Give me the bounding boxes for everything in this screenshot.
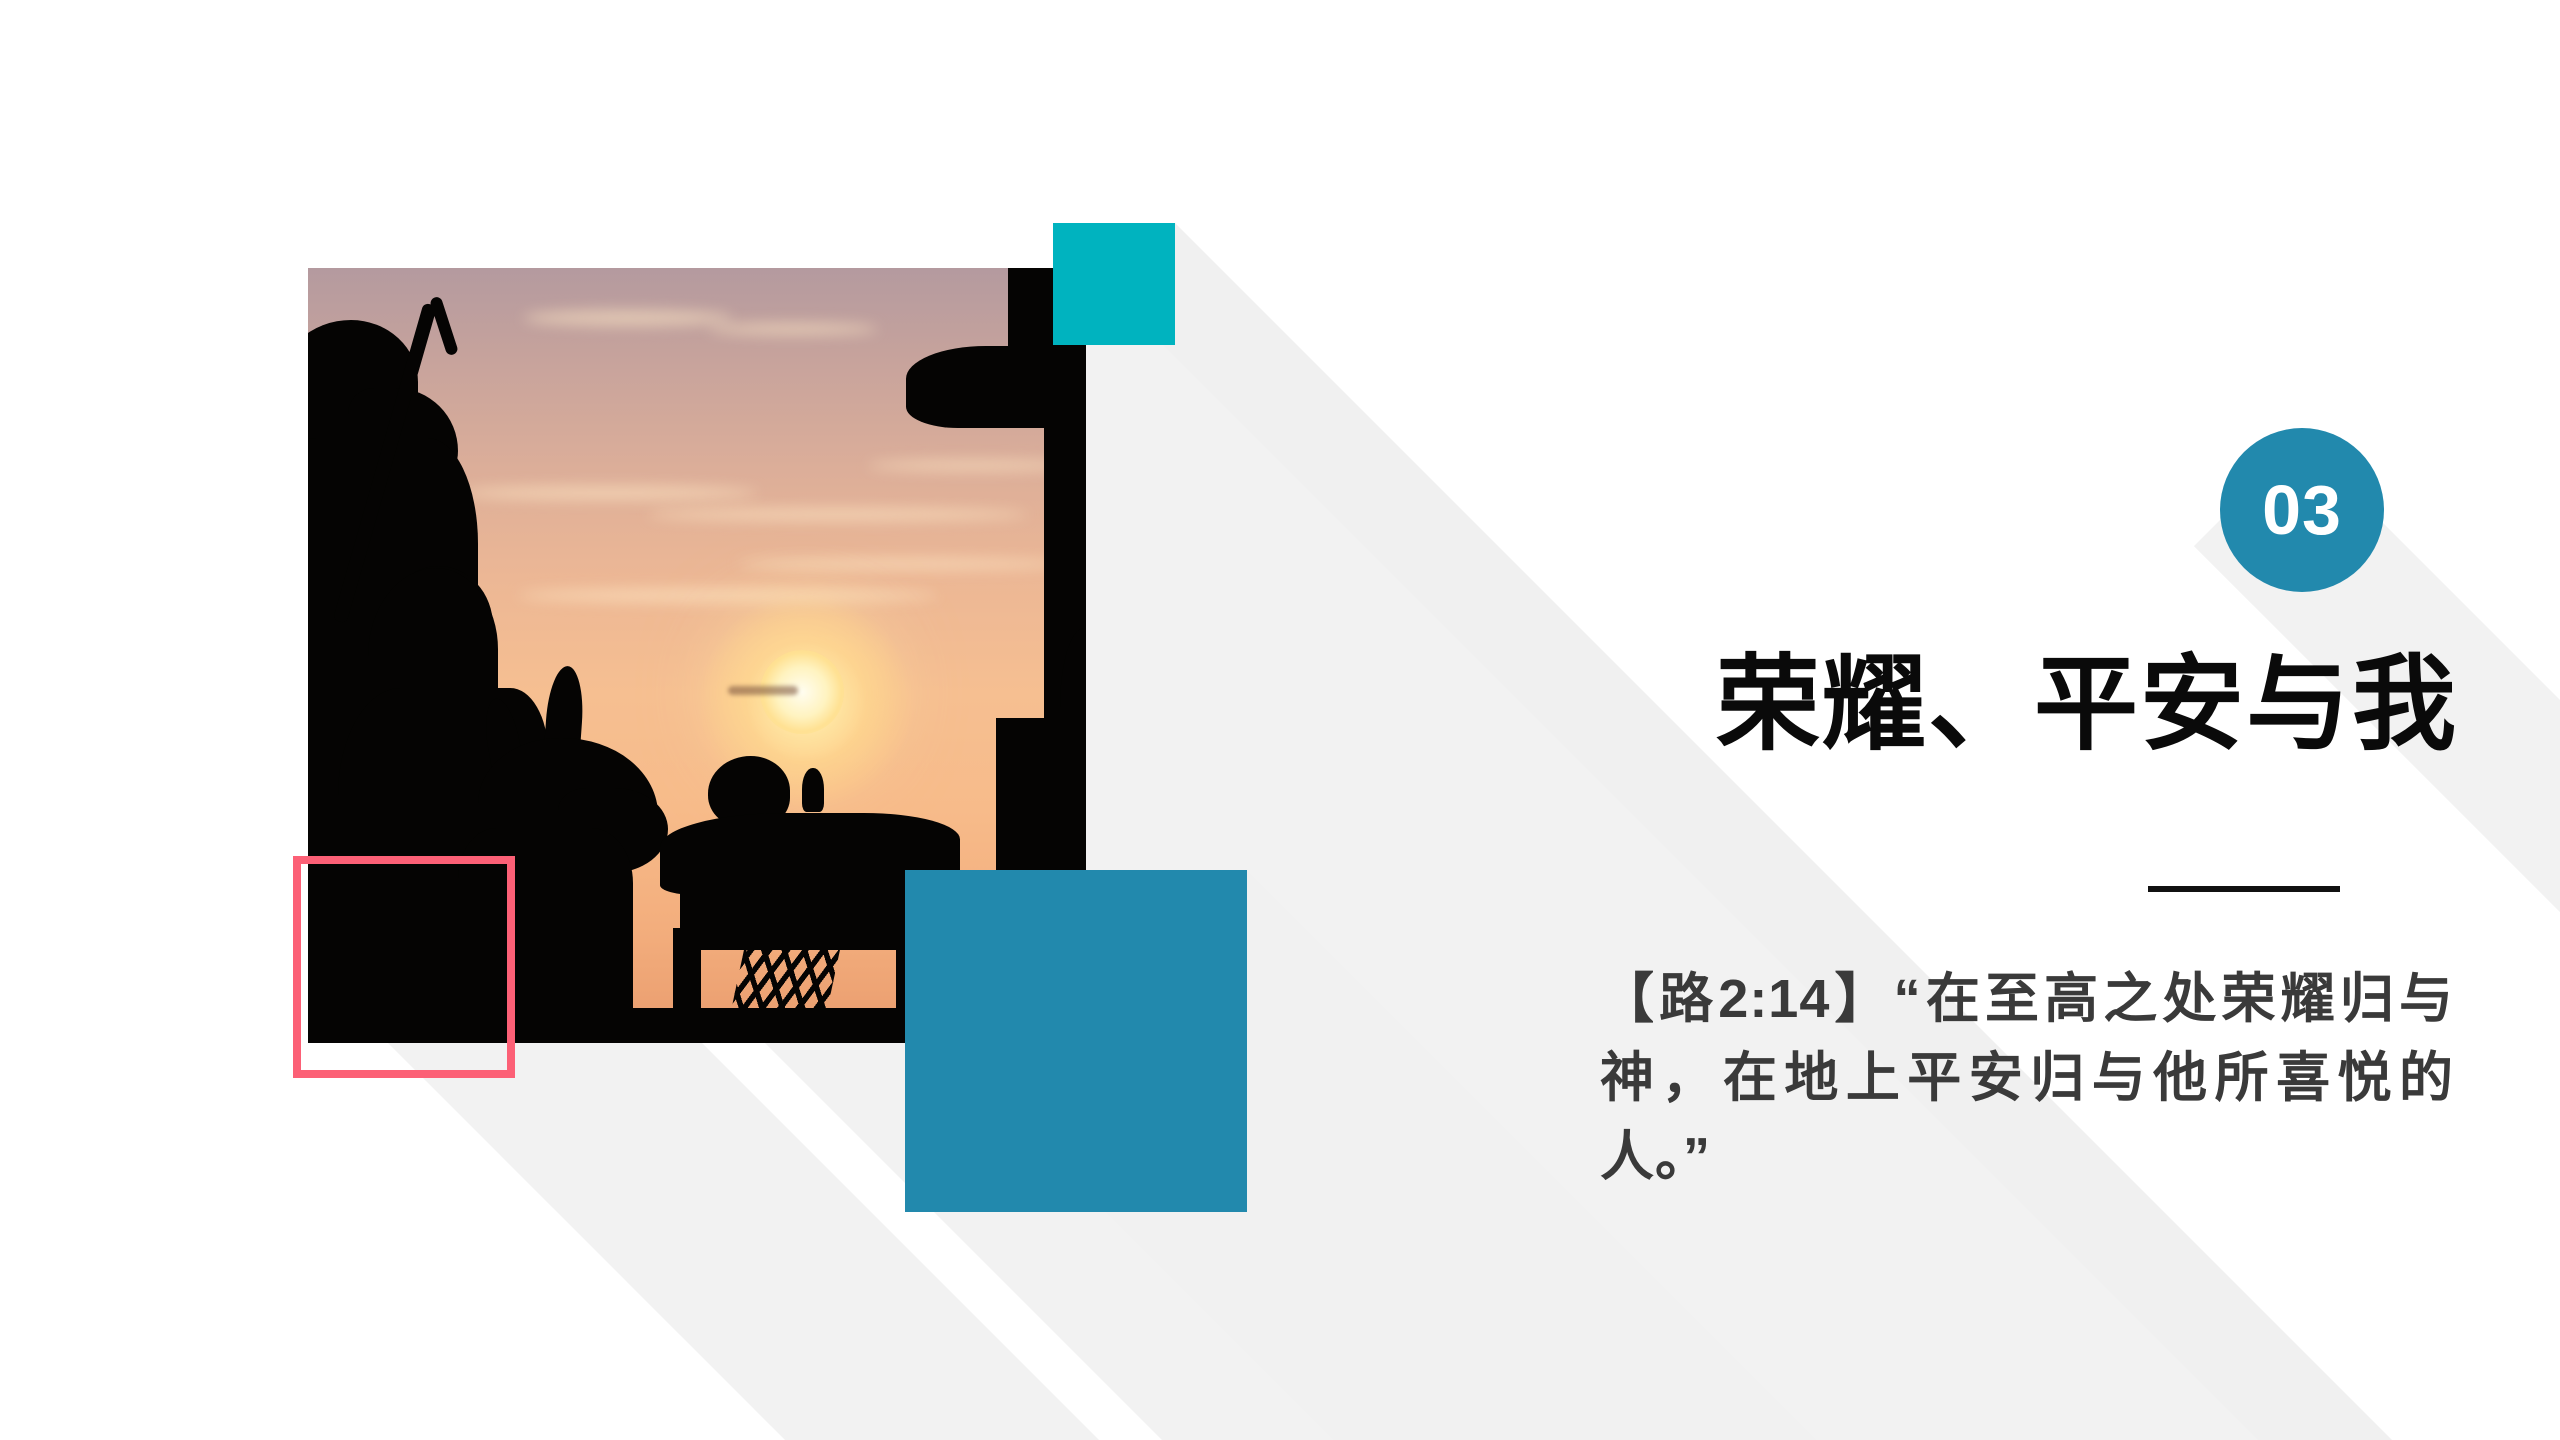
section-number-badge: 03 bbox=[2220, 428, 2384, 592]
silhouette-baby-hand bbox=[802, 768, 824, 812]
teal-square-small bbox=[1053, 223, 1175, 345]
title-divider bbox=[2148, 886, 2340, 892]
cloud-5 bbox=[518, 588, 938, 603]
cloud-4 bbox=[648, 508, 1028, 521]
section-number-label: 03 bbox=[2262, 475, 2342, 545]
cloud-3 bbox=[458, 486, 758, 500]
teal-square-large bbox=[905, 870, 1247, 1212]
sun-cloud-streak bbox=[728, 686, 798, 695]
scripture-verse: 【路2:14】“在至高之处荣耀归与 神，在地上平安归与他所喜悦的人。” bbox=[1600, 960, 2500, 1196]
cloud-1 bbox=[523, 310, 733, 326]
cloud-6 bbox=[738, 558, 1068, 570]
page-title: 荣耀、平安与我 bbox=[1600, 648, 2500, 762]
cloud-2 bbox=[708, 323, 878, 335]
content-column: 03 荣耀、平安与我 【路2:14】“在至高之处荣耀归与 神，在地上平安归与他所… bbox=[1600, 0, 2500, 1440]
selection-rectangle[interactable] bbox=[293, 856, 515, 1078]
slide-canvas: 03 荣耀、平安与我 【路2:14】“在至高之处荣耀归与 神，在地上平安归与他所… bbox=[0, 0, 2560, 1440]
